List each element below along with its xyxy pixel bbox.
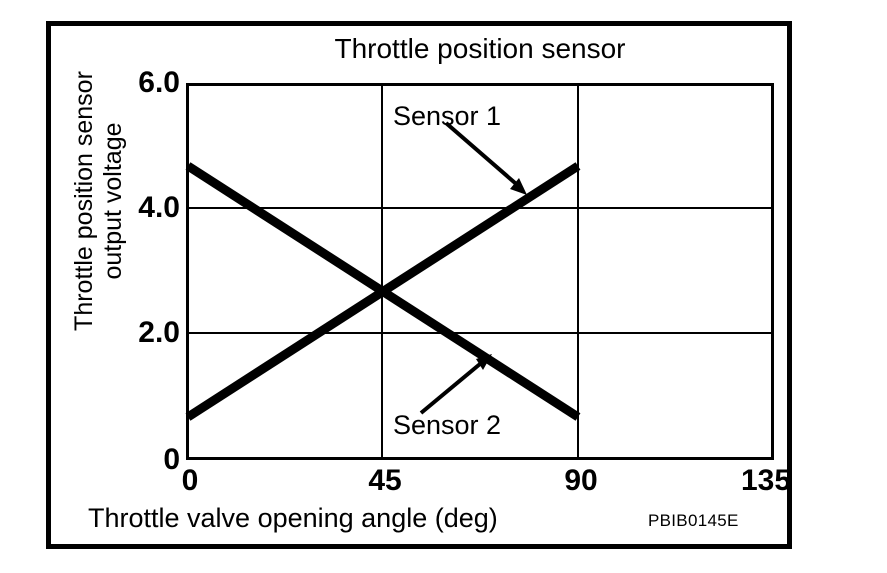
x-tick-135: 135 — [741, 466, 791, 496]
x-tick-45: 45 — [368, 466, 401, 496]
x-axis-tick-labels: 0 45 90 135 — [0, 466, 887, 506]
horizontal-gridlines — [186, 85, 774, 459]
sensor-2-annotation-arrow — [421, 354, 492, 413]
y-tick-6: 6.0 — [138, 68, 180, 98]
y-axis-title-line-1: Throttle position sensor — [70, 71, 99, 331]
x-axis-title: Throttle valve opening angle (deg) — [88, 503, 498, 534]
chart-title: Throttle position sensor — [186, 33, 774, 65]
sensor-1-annotation-arrow — [446, 123, 527, 195]
y-tick-2: 2.0 — [138, 318, 180, 348]
series-label-sensor-1: Sensor 1 — [393, 101, 501, 132]
series-label-sensor-2: Sensor 2 — [393, 410, 501, 441]
vertical-gridlines — [188, 83, 773, 460]
y-tick-4: 4.0 — [138, 193, 180, 223]
plot-svg — [186, 83, 774, 460]
x-tick-90: 90 — [564, 466, 597, 496]
plot-area — [186, 83, 774, 460]
x-tick-0: 0 — [182, 466, 199, 496]
figure-reference-code: PBIB0145E — [648, 511, 739, 531]
